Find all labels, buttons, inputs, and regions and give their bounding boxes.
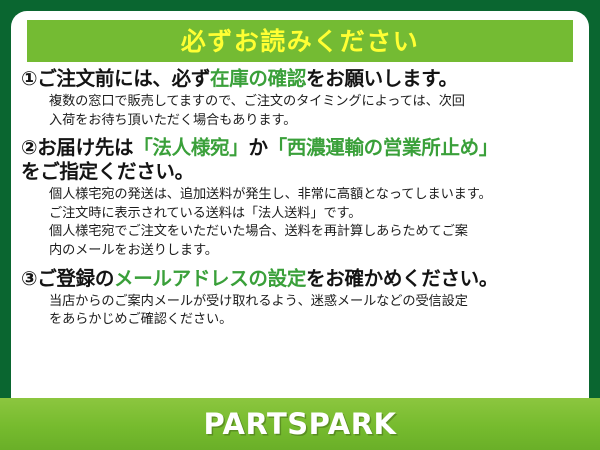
footer-banner: PARTSPARK xyxy=(0,398,600,450)
notice-heading-text: お届け先は xyxy=(37,136,133,159)
notice-heading-text: をご指定ください。 xyxy=(21,160,194,183)
notice-heading-text: ご登録の xyxy=(37,267,114,290)
notice-item: ②お届け先は「法人様宛」か「西濃運輸の営業所止め」 をご指定ください。個人様宅宛… xyxy=(21,136,581,261)
notice-card: 必ずお読みください ①ご注文前には、必ず在庫の確認をお願いします。複数の窓口で販… xyxy=(11,11,589,439)
notice-heading-text: ご注文前には、必ず xyxy=(37,67,210,90)
notice-heading-highlight: 在庫の確認 xyxy=(210,67,306,90)
notice-poster: 必ずお読みください ①ご注文前には、必ず在庫の確認をお願いします。複数の窓口で販… xyxy=(0,0,600,450)
notice-number-marker: ③ xyxy=(21,267,37,290)
notice-heading: ①ご注文前には、必ず在庫の確認をお願いします。 xyxy=(21,67,581,91)
notice-number-marker: ① xyxy=(21,67,37,90)
notice-heading-text: をお願いします。 xyxy=(306,67,458,90)
notice-heading-highlight: 「西濃運輸の営業所止め」 xyxy=(268,136,498,159)
notice-number-marker: ② xyxy=(21,136,37,159)
notice-heading: ②お届け先は「法人様宛」か「西濃運輸の営業所止め」 をご指定ください。 xyxy=(21,136,581,184)
notice-list: ①ご注文前には、必ず在庫の確認をお願いします。複数の窓口で販売してますので、ご注… xyxy=(11,67,589,336)
brand-logo-text: PARTSPARK xyxy=(203,410,396,439)
notice-item: ③ご登録のメールアドレスの設定をお確かめください。当店からのご案内メールが受け取… xyxy=(21,267,581,330)
header-title: 必ずお読みください xyxy=(181,29,420,54)
notice-heading-highlight: 「法人様宛」 xyxy=(133,136,248,159)
header-banner: 必ずお読みください xyxy=(27,20,573,62)
notice-heading-text: をお確かめください。 xyxy=(306,267,498,290)
notice-body: 当店からのご案内メールが受け取れるよう、迷惑メールなどの受信設定 をあらかじめご… xyxy=(21,293,581,330)
notice-body: 複数の窓口で販売してますので、ご注文のタイミングによっては、次回 入荷をお待ち頂… xyxy=(21,93,581,130)
notice-heading: ③ご登録のメールアドレスの設定をお確かめください。 xyxy=(21,267,581,291)
notice-body: 個人様宅宛の発送は、追加送料が発生し、非常に高額となってしまいます。 ご注文時に… xyxy=(21,186,581,261)
notice-heading-text: か xyxy=(248,136,267,159)
notice-heading-highlight: メールアドレスの設定 xyxy=(114,267,306,290)
notice-item: ①ご注文前には、必ず在庫の確認をお願いします。複数の窓口で販売してますので、ご注… xyxy=(21,67,581,130)
